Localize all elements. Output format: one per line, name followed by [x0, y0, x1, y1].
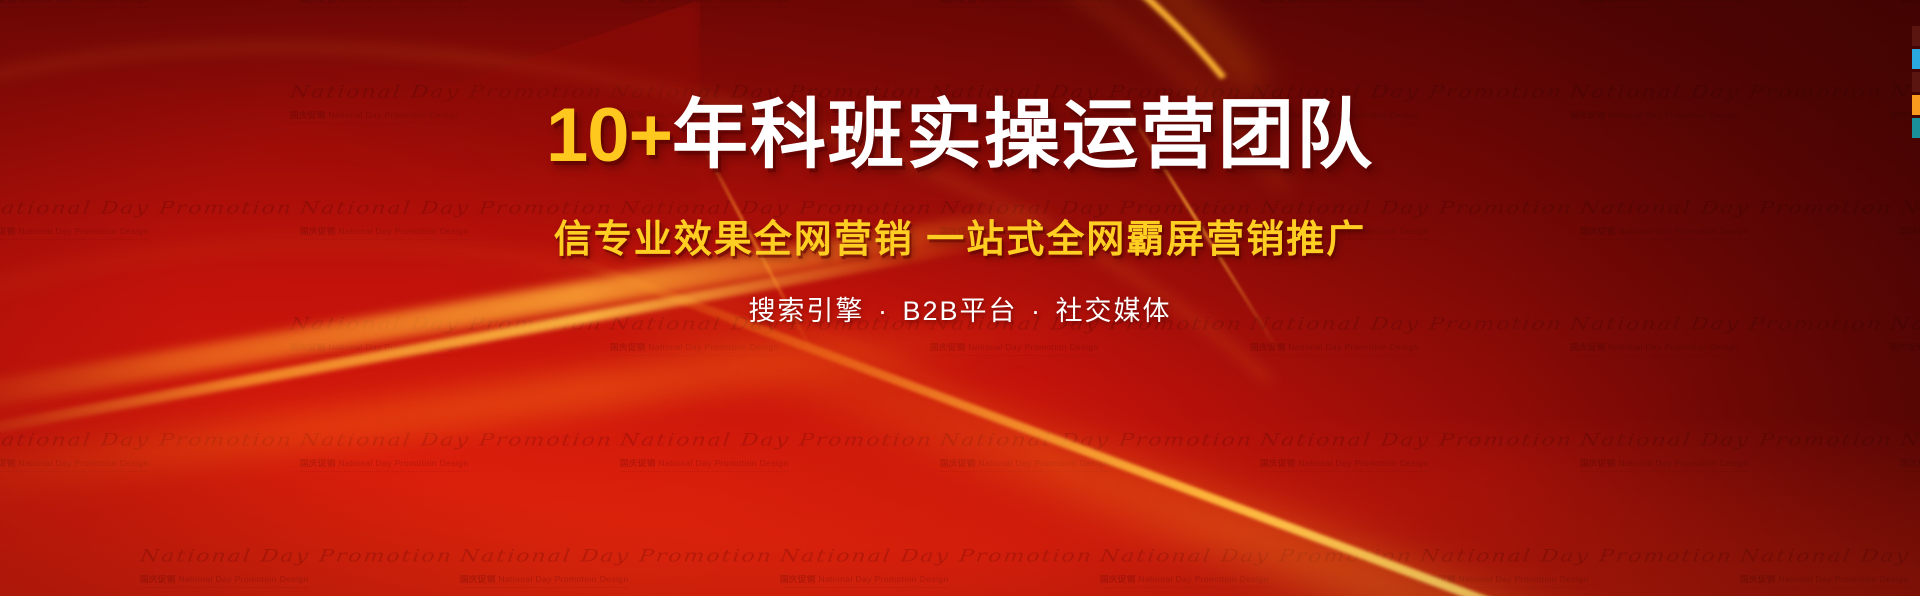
side-widget-segment-phone[interactable]: [1912, 95, 1920, 115]
side-contact-widget[interactable]: [1912, 26, 1920, 141]
promo-banner: National Day Promotion 国庆促销 National Day…: [0, 0, 1920, 596]
banner-headline: 10+年科班实操运营团队: [546, 98, 1374, 174]
banner-content: 10+年科班实操运营团队 信专业效果全网营销 一站式全网霸屏营销推广 搜索引擎 …: [0, 0, 1920, 596]
side-widget-segment-qq[interactable]: [1912, 49, 1920, 69]
headline-text: 年科班实操运营团队: [672, 93, 1374, 178]
tagline-item-b2b-platform: B2B平台: [902, 296, 1017, 326]
banner-subline: 信专业效果全网营销 一站式全网霸屏营销推广: [554, 208, 1367, 263]
banner-tagline: 搜索引擎 · B2B平台 · 社交媒体: [748, 289, 1171, 328]
tagline-separator: ·: [1027, 296, 1046, 326]
side-widget-segment[interactable]: [1912, 72, 1920, 92]
tagline-item-social-media: 社交媒体: [1056, 296, 1172, 326]
side-widget-segment-wechat[interactable]: [1912, 118, 1920, 138]
tagline-separator: ·: [874, 296, 893, 326]
tagline-item-search-engine: 搜索引擎: [748, 296, 864, 326]
headline-number: 10+: [546, 93, 672, 178]
side-widget-segment[interactable]: [1912, 26, 1920, 46]
